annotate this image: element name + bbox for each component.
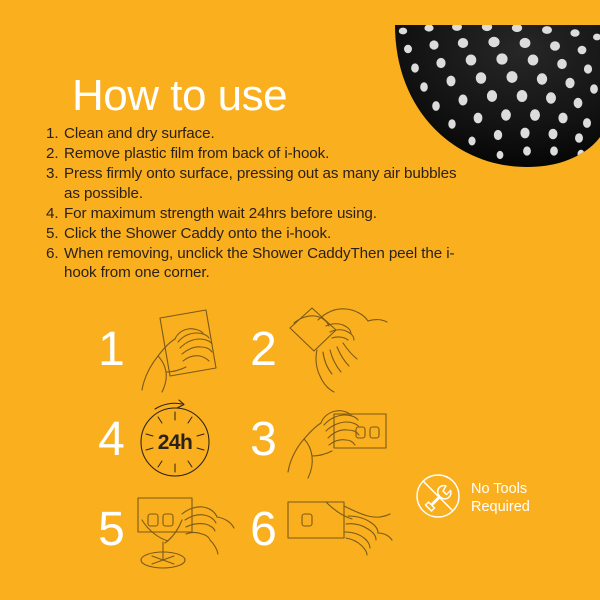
no-tools-required-badge: No Tools Required: [414, 472, 530, 525]
list-item: 1. Clean and dry surface.: [46, 124, 466, 144]
list-item: 3. Press firmly onto surface, pressing o…: [46, 164, 466, 203]
page-title: How to use: [72, 70, 287, 122]
pictogram-number: 4: [92, 416, 130, 464]
step-text: When removing, unclick the Shower CaddyT…: [64, 244, 466, 283]
list-item: 5. Click the Shower Caddy onto the i-hoo…: [46, 224, 466, 244]
list-item: 6. When removing, unclick the Shower Cad…: [46, 244, 466, 283]
two-hands-peeling-film-icon: [282, 306, 394, 394]
pictogram-number: 2: [244, 326, 282, 374]
step-number: 6.: [46, 244, 64, 264]
step-text: Clean and dry surface.: [64, 124, 466, 144]
hand-wiping-cloth-icon: [130, 306, 242, 394]
pictogram-number: 5: [92, 506, 130, 554]
hand-peeling-corner-icon: [282, 486, 394, 574]
clock-24h-icon: 24h: [130, 396, 242, 484]
step-text: Press firmly onto surface, pressing out …: [64, 164, 466, 203]
no-tools-line1: No Tools: [471, 481, 530, 499]
pictogram-number: 3: [244, 416, 282, 464]
no-tools-wrench-icon: [414, 472, 462, 525]
step-number: 5.: [46, 224, 64, 244]
no-tools-label: No Tools Required: [471, 481, 530, 516]
hand-pressing-plate-icon: [282, 396, 394, 484]
step-number: 4.: [46, 204, 64, 224]
list-item: 4. For maximum strength wait 24hrs befor…: [46, 204, 466, 224]
pictogram-step-6: 6: [244, 486, 394, 574]
list-item: 2. Remove plastic film from back of i-ho…: [46, 144, 466, 164]
no-tools-line2: Required: [471, 499, 530, 517]
instruction-list: 1. Clean and dry surface. 2. Remove plas…: [46, 124, 466, 283]
pictogram-number: 1: [92, 326, 130, 374]
pictogram-grid: 1 2: [92, 306, 392, 568]
step-number: 1.: [46, 124, 64, 144]
clock-label: 24h: [158, 431, 192, 454]
hand-clicking-caddy-icon: [130, 486, 242, 574]
pictogram-step-4: 4: [92, 396, 242, 484]
poster-canvas: How to use 1. Clean and dry surface. 2. …: [0, 0, 600, 600]
step-text: Click the Shower Caddy onto the i-hook.: [64, 224, 466, 244]
step-number: 3.: [46, 164, 64, 184]
pictogram-number: 6: [244, 506, 282, 554]
step-text: For maximum strength wait 24hrs before u…: [64, 204, 466, 224]
pictogram-step-5: 5: [92, 486, 242, 574]
pictogram-step-2: 2: [244, 306, 394, 394]
step-text: Remove plastic film from back of i-hook.: [64, 144, 466, 164]
pictogram-step-3: 3: [244, 396, 394, 484]
step-number: 2.: [46, 144, 64, 164]
pictogram-step-1: 1: [92, 306, 242, 394]
